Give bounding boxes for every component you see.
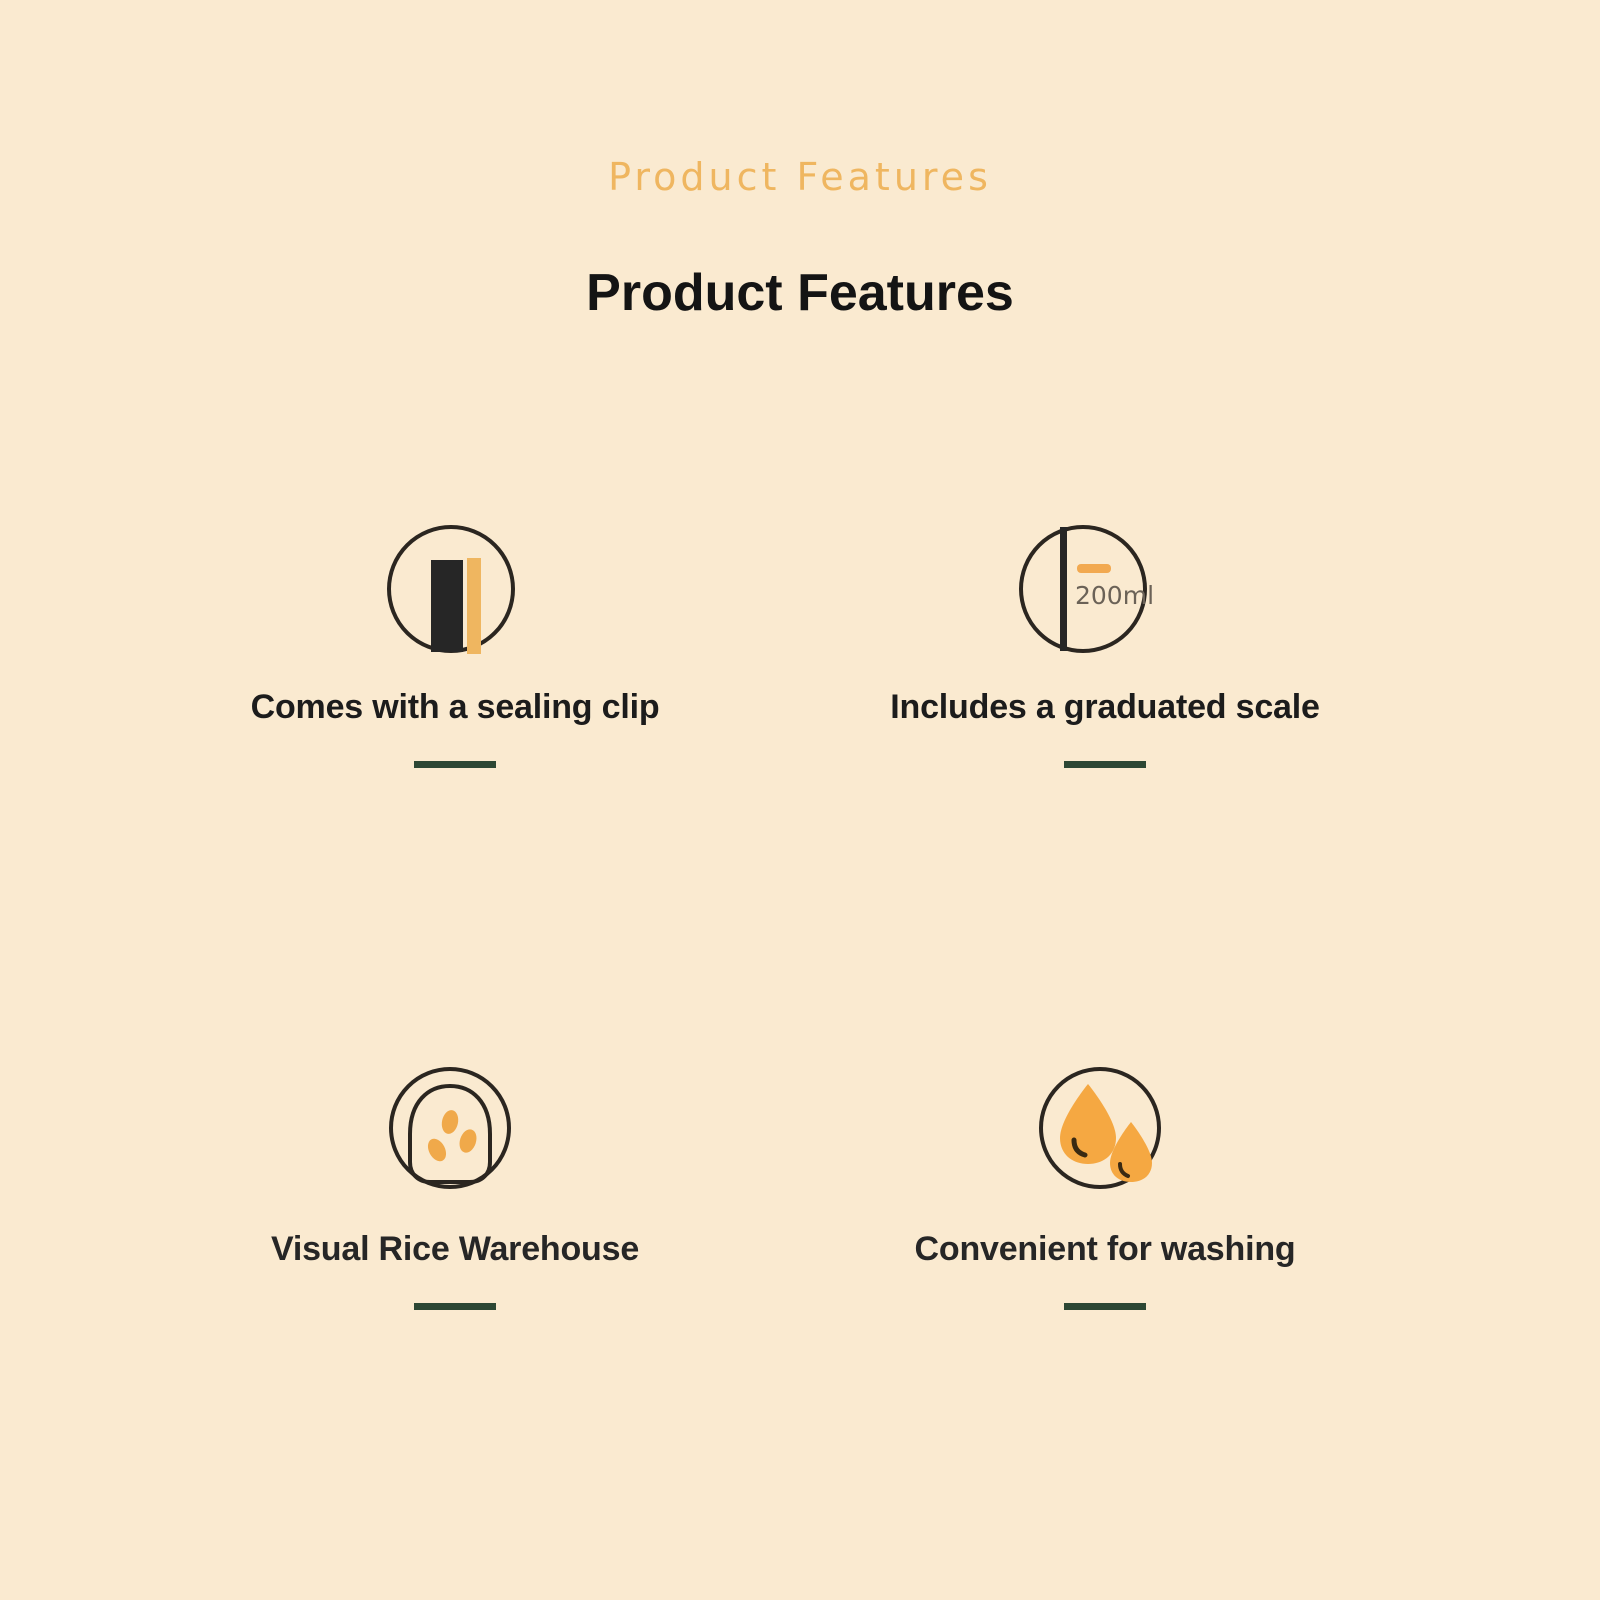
feature-divider bbox=[1064, 761, 1146, 768]
feature-divider bbox=[414, 1303, 496, 1310]
feature-label: Comes with a sealing clip bbox=[155, 688, 755, 727]
graduated-scale-icon: 200ml bbox=[805, 520, 1405, 662]
feature-divider bbox=[414, 761, 496, 768]
page-title: Product Features bbox=[0, 263, 1600, 323]
feature-card-convenient-washing: Convenient for washing bbox=[805, 1062, 1405, 1310]
rice-container-icon bbox=[155, 1062, 755, 1204]
feature-card-sealing-clip: Comes with a sealing clip bbox=[155, 520, 755, 768]
feature-label: Visual Rice Warehouse bbox=[155, 1230, 755, 1269]
sealing-clip-icon bbox=[155, 520, 755, 662]
scale-value-text: 200ml bbox=[1075, 581, 1154, 610]
feature-label: Includes a graduated scale bbox=[805, 688, 1405, 727]
eyebrow-heading: Product Features bbox=[0, 155, 1600, 199]
water-droplets-icon bbox=[805, 1062, 1405, 1204]
feature-label: Convenient for washing bbox=[805, 1230, 1405, 1269]
feature-card-graduated-scale: 200ml Includes a graduated scale bbox=[805, 520, 1405, 768]
feature-divider bbox=[1064, 1303, 1146, 1310]
feature-card-visual-rice-warehouse: Visual Rice Warehouse bbox=[155, 1062, 755, 1310]
product-features-page: Product Features Product Features Comes … bbox=[0, 0, 1600, 1600]
